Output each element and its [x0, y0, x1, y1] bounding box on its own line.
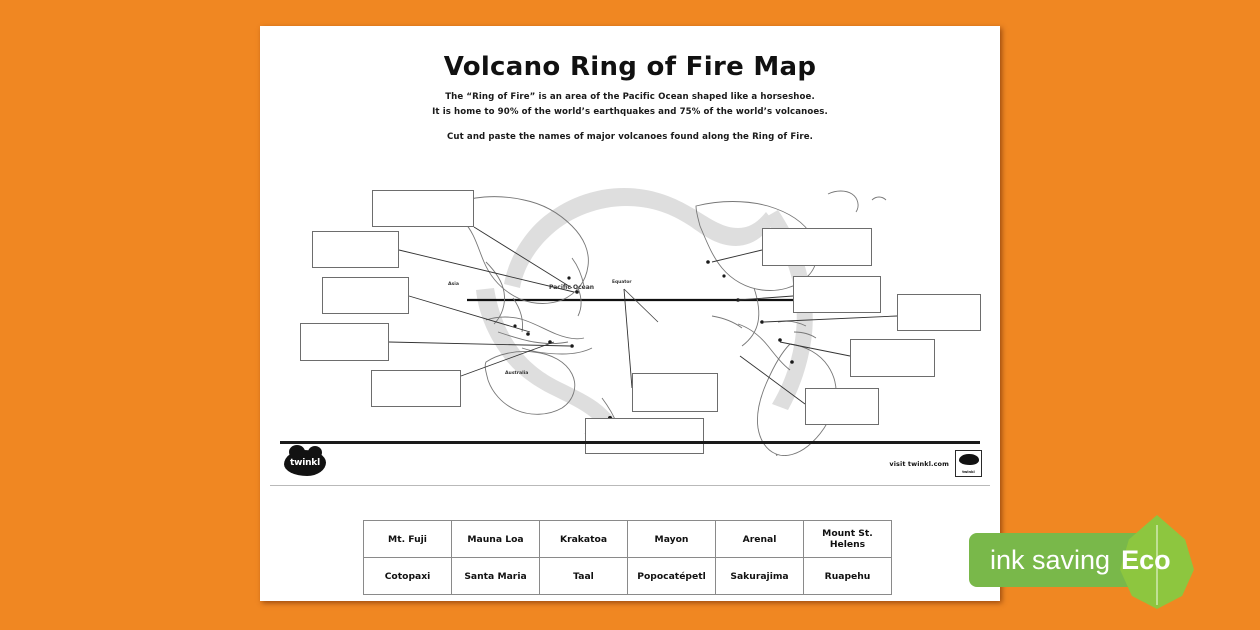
badge-cloud-icon	[959, 454, 979, 465]
word-card[interactable]: Taal	[540, 558, 628, 595]
word-card[interactable]: Ruapehu	[804, 558, 892, 595]
word-card[interactable]: Krakatoa	[540, 521, 628, 558]
answer-box-2[interactable]	[312, 231, 399, 268]
worksheet-page: Volcano Ring of Fire Map The “Ring of Fi…	[260, 26, 1000, 601]
twinkl-logo[interactable]: twinkl	[284, 450, 326, 476]
intro-line-2: It is home to 90% of the world’s earthqu…	[260, 105, 1000, 120]
equator-leader	[624, 289, 658, 322]
footer-divider	[280, 441, 980, 444]
instruction-line: Cut and paste the names of major volcano…	[260, 130, 1000, 145]
answer-box-10[interactable]	[897, 294, 981, 331]
ring-of-fire-band	[504, 188, 774, 288]
eco-label-secondary: Eco	[1121, 545, 1171, 576]
answer-box-6[interactable]	[632, 373, 718, 412]
footer-right-group: visit twinkl.com twinkl	[889, 450, 982, 477]
word-card[interactable]: Arenal	[716, 521, 804, 558]
table-row: Mt. Fuji Mauna Loa Krakatoa Mayon Arenal…	[364, 521, 892, 558]
page-title: Volcano Ring of Fire Map	[260, 52, 1000, 82]
word-bank-table: Mt. Fuji Mauna Loa Krakatoa Mayon Arenal…	[363, 520, 892, 595]
word-card[interactable]: Mt. Fuji	[364, 521, 452, 558]
badge-caption: twinkl	[956, 470, 981, 474]
word-card[interactable]: Mayon	[628, 521, 716, 558]
answer-box-1[interactable]	[372, 190, 474, 227]
answer-box-5[interactable]	[371, 370, 461, 407]
asia-label: Asia	[448, 282, 459, 287]
word-card[interactable]: Sakurajima	[716, 558, 804, 595]
answer-box-11[interactable]	[850, 339, 935, 377]
answer-box-7[interactable]	[585, 418, 704, 454]
australia-label: Australia	[505, 371, 528, 376]
worksheet-body: Volcano Ring of Fire Map The “Ring of Fi…	[260, 26, 1000, 485]
intro-line-1: The “Ring of Fire” is an area of the Pac…	[260, 90, 1000, 105]
word-bank-section: Mt. Fuji Mauna Loa Krakatoa Mayon Arenal…	[260, 486, 1000, 601]
answer-box-9[interactable]	[793, 276, 881, 313]
answer-box-3[interactable]	[322, 277, 409, 314]
ring-of-fire-map: Asia Pacific Ocean Australia Equator	[272, 166, 988, 456]
intro-text-block: The “Ring of Fire” is an area of the Pac…	[260, 90, 1000, 145]
word-card[interactable]: Popocatépetl	[628, 558, 716, 595]
eco-label-primary: ink saving	[990, 545, 1110, 576]
answer-box-8[interactable]	[762, 228, 872, 266]
answer-box-4[interactable]	[300, 323, 389, 361]
table-row: Cotopaxi Santa Maria Taal Popocatépetl S…	[364, 558, 892, 595]
word-card[interactable]: Mauna Loa	[452, 521, 540, 558]
pacific-ocean-label: Pacific Ocean	[549, 284, 594, 291]
word-card[interactable]: Santa Maria	[452, 558, 540, 595]
twinkl-badge-icon: twinkl	[955, 450, 982, 477]
twinkl-url[interactable]: visit twinkl.com	[889, 460, 949, 468]
answer-box-12[interactable]	[805, 388, 879, 425]
ink-saving-eco-badge: ink saving Eco	[969, 533, 1195, 587]
word-card[interactable]: Cotopaxi	[364, 558, 452, 595]
equator-label: Equator	[612, 280, 632, 285]
eco-label-group: ink saving Eco	[969, 533, 1195, 587]
twinkl-wordmark: twinkl	[284, 450, 326, 476]
word-card[interactable]: Mount St. Helens	[804, 521, 892, 558]
